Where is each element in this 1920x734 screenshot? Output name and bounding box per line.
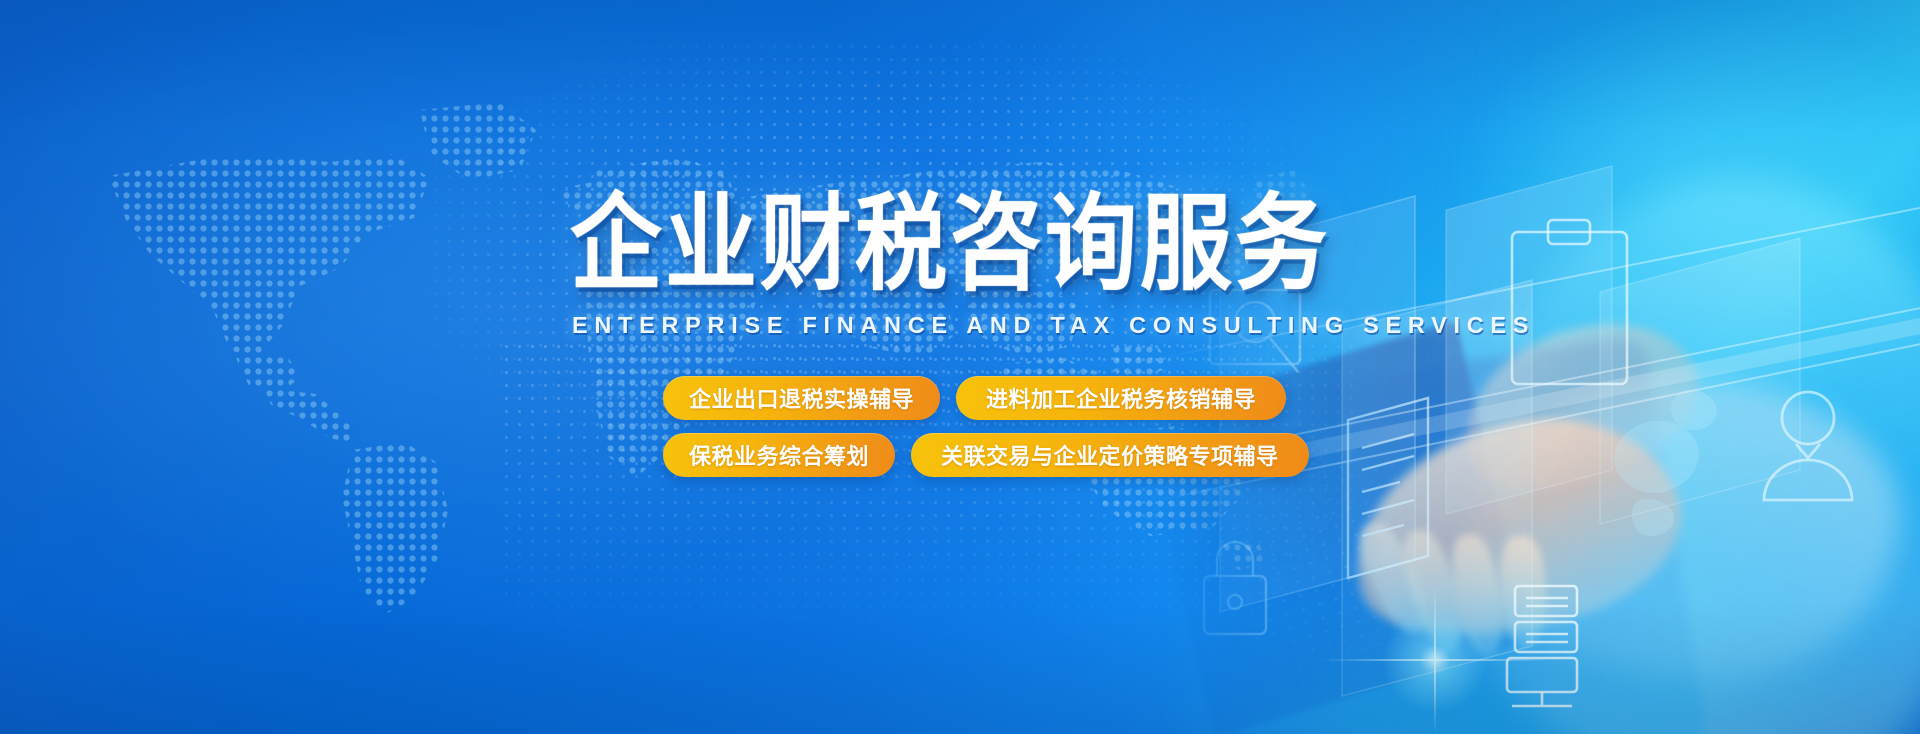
banner-headline: 企业财税咨询服务 (570, 192, 1330, 297)
banner-subheadline: ENTERPRISE FINANCE AND TAX CONSULTING SE… (572, 312, 1535, 339)
service-tag-bonded-business-planning[interactable]: 保税业务综合筹划 (663, 433, 895, 477)
hero-banner: 企业财税咨询服务 ENTERPRISE FINANCE AND TAX CONS… (0, 0, 1920, 734)
service-tag-list: 企业出口退税实操辅导 进料加工企业税务核销辅导 保税业务综合筹划 关联交易与企业… (663, 376, 1323, 490)
service-tag-processing-trade-writeoff[interactable]: 进料加工企业税务核销辅导 (956, 376, 1286, 420)
service-tag-row-2: 保税业务综合筹划 关联交易与企业定价策略专项辅导 (663, 433, 1323, 477)
service-tag-export-tax-rebate[interactable]: 企业出口退税实操辅导 (663, 376, 940, 420)
service-tag-related-party-transfer-pricing[interactable]: 关联交易与企业定价策略专项辅导 (911, 433, 1309, 477)
service-tag-row-1: 企业出口退税实操辅导 进料加工企业税务核销辅导 (663, 376, 1323, 420)
banner-content: 企业财税咨询服务 ENTERPRISE FINANCE AND TAX CONS… (0, 0, 1920, 734)
